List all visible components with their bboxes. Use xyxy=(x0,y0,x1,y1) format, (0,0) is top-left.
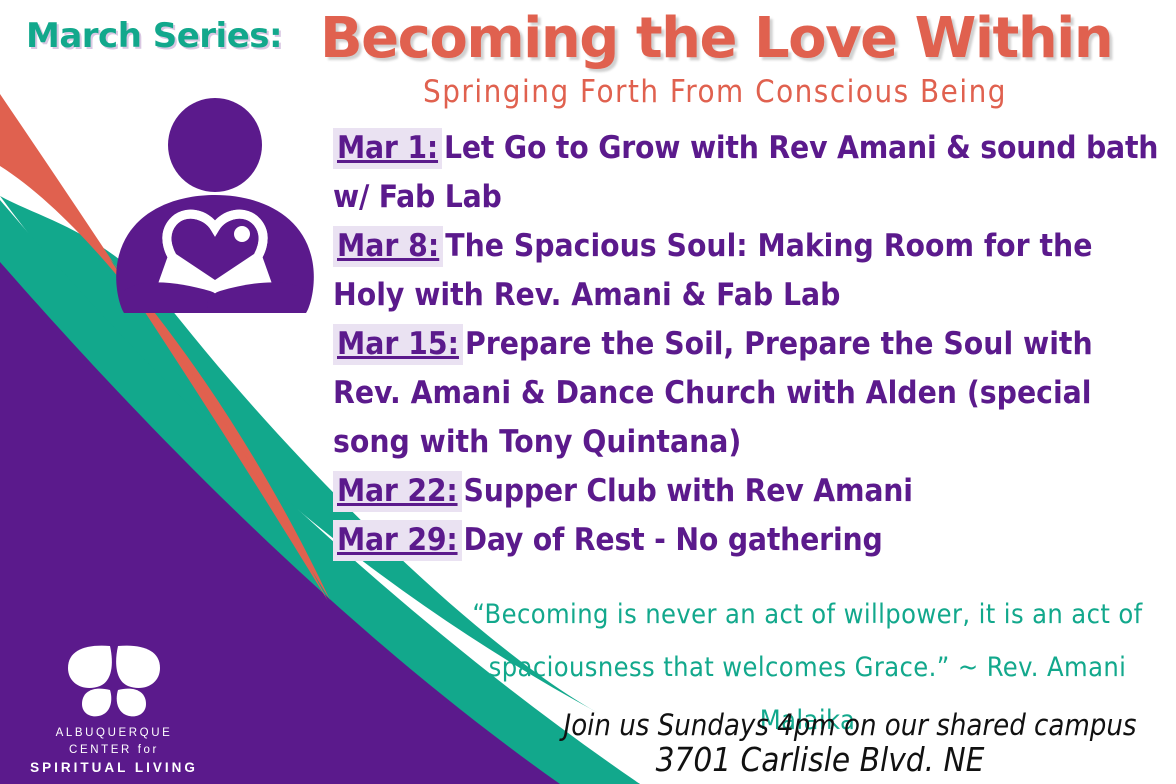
march-series-eyebrow: March Series: xyxy=(26,16,282,56)
logo-text-block: ALBUQUERQUE CENTER for SPIRITUAL LIVING xyxy=(24,725,204,776)
footer-service-time: Join us Sundays 4pm on our shared campus xyxy=(540,708,1160,742)
schedule-item-text: Supper Club with Rev Amani xyxy=(464,473,913,509)
organization-logo: ALBUQUERQUE CENTER for SPIRITUAL LIVING xyxy=(24,634,204,776)
schedule-item: Mar 8:The Spacious Soul: Making Room for… xyxy=(333,222,1165,320)
schedule-item-text: Day of Rest - No gathering xyxy=(464,522,883,558)
schedule-date-badge: Mar 15: xyxy=(333,324,463,365)
schedule-list: Mar 1:Let Go to Grow with Rev Amani & so… xyxy=(333,124,1165,565)
schedule-date-badge: Mar 29: xyxy=(333,520,462,561)
page-title: Becoming the Love Within xyxy=(320,6,1100,71)
flyer-canvas: March Series: Becoming the Love Within S… xyxy=(0,0,1176,784)
butterfly-leaf-logo-icon xyxy=(56,634,172,720)
schedule-date-badge: Mar 22: xyxy=(333,471,462,512)
schedule-item-text: The Spacious Soul: Making Room for the H… xyxy=(333,228,1092,313)
person-embracing-heart-icon xyxy=(110,95,320,320)
schedule-date-badge: Mar 1: xyxy=(333,128,442,169)
schedule-item-text: Let Go to Grow with Rev Amani & sound ba… xyxy=(333,130,1158,215)
schedule-item: Mar 15:Prepare the Soil, Prepare the Sou… xyxy=(333,320,1165,467)
logo-line-3: SPIRITUAL LIVING xyxy=(24,759,204,776)
logo-line-2: CENTER for xyxy=(24,742,204,759)
page-subtitle: Springing Forth From Conscious Being xyxy=(320,74,1110,110)
schedule-item: Mar 22:Supper Club with Rev Amani xyxy=(333,467,1165,516)
schedule-item: Mar 29:Day of Rest - No gathering xyxy=(333,516,1165,565)
footer-address: 3701 Carlisle Blvd. NE xyxy=(540,740,1100,779)
schedule-item: Mar 1:Let Go to Grow with Rev Amani & so… xyxy=(333,124,1165,222)
schedule-date-badge: Mar 8: xyxy=(333,226,443,267)
logo-line-1: ALBUQUERQUE xyxy=(24,725,204,742)
